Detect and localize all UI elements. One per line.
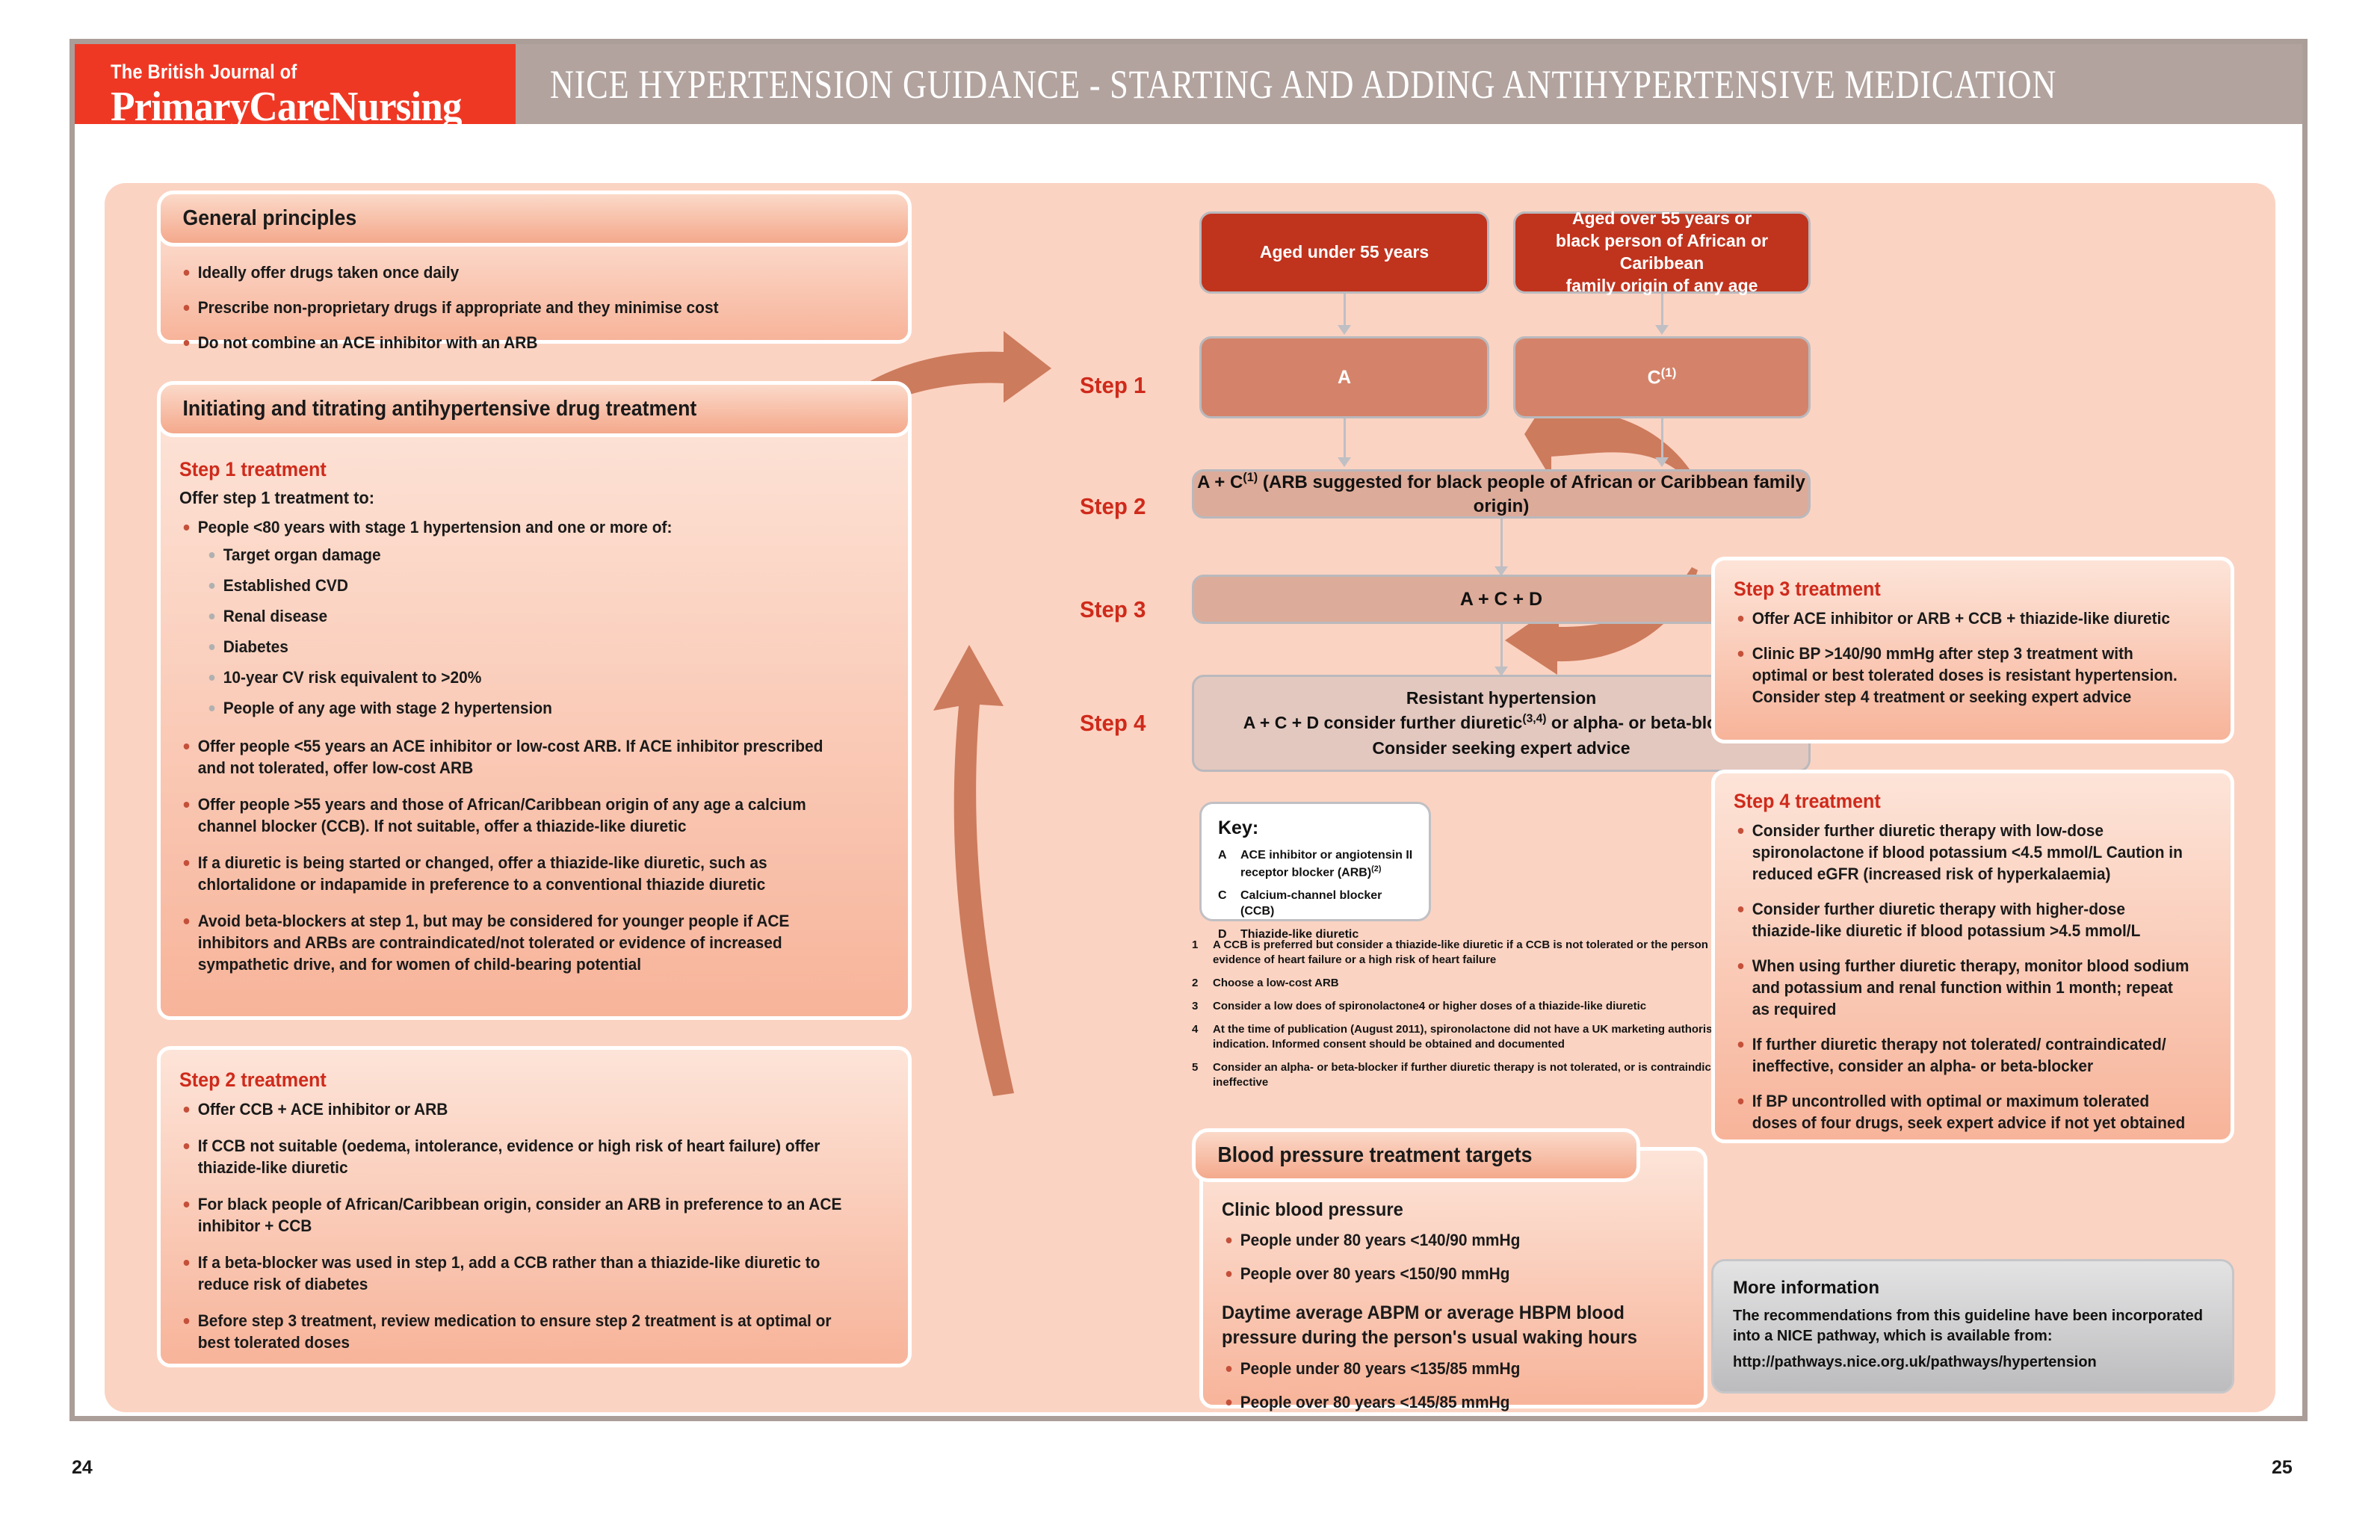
footnote-number: 4 — [1192, 1022, 1213, 1052]
footnote-list: 1 A CCB is preferred but consider a thia… — [1192, 938, 1797, 1098]
step4-treatment-list: Consider further diuretic therapy with l… — [1734, 820, 2216, 1134]
bp-group1-title: Clinic blood pressure — [1222, 1199, 1669, 1221]
s2-sup: (1) — [1243, 471, 1258, 484]
list-item: Ideally offer drugs taken once daily — [179, 262, 854, 283]
connector-c-to-step2 — [1661, 418, 1663, 463]
step2-treatment-title: Step 2 treatment — [179, 1069, 840, 1092]
flow-box-step4-l3: Consider seeking expert advice — [1372, 736, 1630, 761]
footnote-item: 1 A CCB is preferred but consider a thia… — [1192, 938, 1797, 968]
more-information-box: More information The recommendations fro… — [1711, 1259, 2234, 1394]
flow-box-step2-label: A + C(1) (ARB suggested for black people… — [1194, 470, 1808, 517]
step3-treatment-title: Step 3 treatment — [1734, 578, 2182, 601]
list-item: If further diuretic therapy not tolerate… — [1734, 1033, 2192, 1077]
list-item: If a beta-blocker was used in step 1, ad… — [179, 1252, 854, 1295]
footnote-item: 2 Choose a low-cost ARB — [1192, 976, 1797, 991]
flow-box-aged-over-55-l1: Aged over 55 years or — [1572, 208, 1752, 230]
list-item: Diabetes — [205, 636, 855, 658]
step4-treatment-title: Step 4 treatment — [1734, 790, 2182, 813]
key-text-main: ACE inhibitor or angiotensin II receptor… — [1240, 849, 1412, 879]
flow-box-step4-l1: Resistant hypertension — [1406, 686, 1596, 711]
step1-detail-list: Offer people <55 years an ACE inhibitor … — [179, 735, 889, 975]
step-label-4: Step 4 — [1080, 710, 1146, 737]
connector-head — [1338, 457, 1351, 467]
initiating-heading: Initiating and titrating antihypertensiv… — [161, 397, 696, 421]
masthead-line-1: The British Journal of — [111, 61, 467, 84]
journal-masthead: The British Journal of PrimaryCareNursin… — [75, 44, 516, 124]
flow-box-step3-label: A + C + D — [1460, 587, 1542, 612]
bp-group2-list: People under 80 years <135/85 mmHg Peopl… — [1222, 1358, 1693, 1413]
connector-a-to-step2 — [1344, 418, 1346, 463]
flow-box-aged-over-55: Aged over 55 years or black person of Af… — [1513, 211, 1811, 294]
footnote-text: A CCB is preferred but consider a thiazi… — [1213, 938, 1797, 968]
list-item: Renal disease — [205, 605, 855, 627]
more-information-body: The recommendations from this guideline … — [1733, 1306, 2213, 1346]
key-letter: A — [1218, 848, 1240, 881]
list-item: When using further diuretic therapy, mon… — [1734, 955, 2192, 1020]
s4-sup1: (3,4) — [1522, 713, 1546, 726]
flow-box-c: C(1) — [1513, 336, 1811, 418]
poster-page: The British Journal of PrimaryCareNursin… — [0, 0, 2380, 1540]
list-item: Prescribe non-proprietary drugs if appro… — [179, 297, 854, 318]
flow-box-step2: A + C(1) (ARB suggested for black people… — [1192, 469, 1811, 519]
list-item: People <80 years with stage 1 hypertensi… — [179, 516, 854, 538]
key-letter: C — [1218, 888, 1240, 920]
key-box: Key: A ACE inhibitor or angiotensin II r… — [1199, 802, 1431, 921]
step1-title: Step 1 treatment — [179, 458, 840, 481]
step1-lead: Offer step 1 treatment to: — [179, 488, 854, 508]
step-label-3: Step 3 — [1080, 596, 1146, 623]
key-text: ACE inhibitor or angiotensin II receptor… — [1240, 848, 1414, 881]
key-title: Key: — [1218, 817, 1414, 839]
flow-box-aged-over-55-l2: black person of African or Caribbean — [1515, 230, 1808, 275]
list-item: Clinic BP >140/90 mmHg after step 3 trea… — [1734, 643, 2192, 708]
list-item: If a diuretic is being started or change… — [179, 852, 854, 895]
general-principles-heading: General principles — [161, 206, 356, 231]
list-item: Offer people <55 years an ACE inhibitor … — [179, 735, 854, 779]
step3-treatment-list: Offer ACE inhibitor or ARB + CCB + thiaz… — [1734, 607, 2216, 708]
footnote-number: 2 — [1192, 976, 1213, 991]
key-row: A ACE inhibitor or angiotensin II recept… — [1218, 848, 1414, 881]
list-item: Consider further diuretic therapy with l… — [1734, 820, 2192, 885]
list-item: People under 80 years <135/85 mmHg — [1222, 1358, 1669, 1379]
list-item: People over 80 years <145/85 mmHg — [1222, 1391, 1669, 1413]
general-principles-list: Ideally offer drugs taken once daily Pre… — [179, 262, 889, 362]
list-item: 10-year CV risk equivalent to >20% — [205, 667, 855, 688]
flow-box-a: A — [1199, 336, 1489, 418]
footnote-item: 5 Consider an alpha- or beta-blocker if … — [1192, 1060, 1797, 1090]
general-principles-header: General principles — [157, 191, 912, 247]
footnote-number: 3 — [1192, 999, 1213, 1014]
arrow-loop-to-step2 — [915, 460, 1050, 1102]
list-item: Do not combine an ACE inhibitor with an … — [179, 332, 854, 353]
flow-box-aged-under-55: Aged under 55 years — [1199, 211, 1489, 294]
list-item: Established CVD — [205, 575, 855, 596]
list-item: Offer ACE inhibitor or ARB + CCB + thiaz… — [1734, 607, 2192, 629]
connector-head — [1655, 457, 1669, 467]
bp-group1-list: People under 80 years <140/90 mmHg Peopl… — [1222, 1229, 1693, 1284]
content-canvas: General principles Ideally offer drugs t… — [105, 183, 2275, 1412]
footnote-number: 1 — [1192, 938, 1213, 968]
connector-head — [1338, 325, 1351, 335]
flow-box-a-label: A — [1338, 365, 1351, 390]
list-item: Consider further diuretic therapy with h… — [1734, 898, 2192, 941]
flow-box-c-superscript: (1) — [1661, 365, 1677, 380]
flow-box-step4-l2: A + C + D consider further diuretic(3,4)… — [1243, 711, 1760, 735]
list-item: People over 80 years <150/90 mmHg — [1222, 1263, 1669, 1284]
masthead-line-2: PrimaryCareNursing — [111, 84, 495, 129]
step1-sub-list: Target organ damage Established CVD Rena… — [205, 544, 889, 719]
list-item: People of any age with stage 2 hypertens… — [205, 697, 855, 719]
page-title: NICE HYPERTENSION GUIDANCE - STARTING AN… — [516, 61, 2056, 108]
footnote-text: Consider a low does of spironolactone4 o… — [1213, 999, 1646, 1014]
key-text-sup: (2) — [1371, 865, 1381, 873]
s2-pre: A + C — [1197, 472, 1243, 492]
footnote-item: 4 At the time of publication (August 201… — [1192, 1022, 1797, 1052]
connector-step2-to-step3 — [1500, 519, 1503, 572]
step-label-2: Step 2 — [1080, 493, 1146, 520]
s2-post: (ARB suggested for black people of Afric… — [1258, 472, 1805, 516]
bp-targets-header: Blood pressure treatment targets — [1192, 1128, 1640, 1182]
list-item: Offer CCB + ACE inhibitor or ARB — [179, 1098, 854, 1120]
list-item: If BP uncontrolled with optimal or maxim… — [1734, 1090, 2192, 1134]
page-number-right: 25 — [2272, 1457, 2293, 1479]
list-item: People under 80 years <140/90 mmHg — [1222, 1229, 1669, 1251]
step-label-1: Step 1 — [1080, 372, 1146, 399]
list-item: Before step 3 treatment, review medicati… — [179, 1310, 854, 1353]
footnote-text: At the time of publication (August 2011)… — [1213, 1022, 1797, 1052]
flow-box-aged-under-55-label: Aged under 55 years — [1260, 241, 1429, 264]
list-item: Avoid beta-blockers at step 1, but may b… — [179, 910, 854, 975]
flow-box-c-label: C(1) — [1648, 365, 1677, 390]
more-information-link[interactable]: http://pathways.nice.org.uk/pathways/hyp… — [1733, 1354, 2213, 1371]
key-text: Calcium-channel blocker (CCB) — [1240, 888, 1414, 920]
connector-step3-to-step4 — [1500, 624, 1503, 672]
initiating-header: Initiating and titrating antihypertensiv… — [157, 381, 912, 437]
bp-targets-heading: Blood pressure treatment targets — [1196, 1143, 1532, 1168]
bp-group2-title: Daytime average ABPM or average HBPM blo… — [1222, 1301, 1669, 1349]
footnote-item: 3 Consider a low does of spironolactone4… — [1192, 999, 1797, 1014]
list-item: If CCB not suitable (oedema, intolerance… — [179, 1135, 854, 1178]
list-item: Offer people >55 years and those of Afri… — [179, 794, 854, 837]
page-number-left: 24 — [72, 1457, 93, 1479]
s4-pre: A + C + D consider further diuretic — [1243, 713, 1523, 732]
connector-head — [1655, 325, 1669, 335]
key-row: C Calcium-channel blocker (CCB) — [1218, 888, 1414, 920]
list-item: Target organ damage — [205, 544, 855, 566]
title-bar: NICE HYPERTENSION GUIDANCE - STARTING AN… — [516, 44, 2302, 124]
step2-treatment-list: Offer CCB + ACE inhibitor or ARB If CCB … — [179, 1098, 889, 1353]
footnote-text: Choose a low-cost ARB — [1213, 976, 1339, 991]
step1-main-list: People <80 years with stage 1 hypertensi… — [179, 516, 889, 538]
footnote-text: Consider an alpha- or beta-blocker if fu… — [1213, 1060, 1797, 1090]
list-item: For black people of African/Caribbean or… — [179, 1193, 854, 1237]
footnote-number: 5 — [1192, 1060, 1213, 1090]
more-information-title: More information — [1733, 1278, 2213, 1299]
